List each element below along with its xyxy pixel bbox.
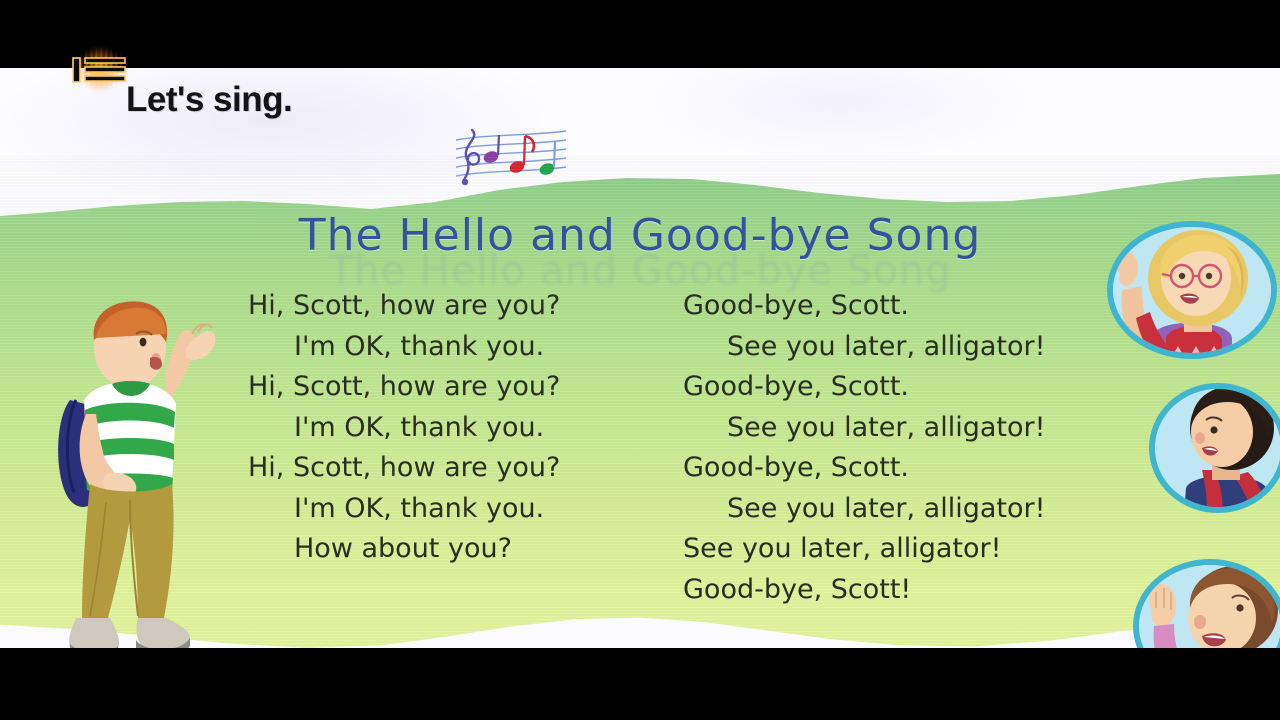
lyrics-column-left: Hi, Scott, how are you?I'm OK, thank you… — [248, 286, 560, 570]
lyric-line: Hi, Scott, how are you? — [248, 286, 560, 327]
lyric-line: See you later, alligator! — [683, 408, 1045, 449]
audio-track-icon[interactable] — [58, 40, 142, 98]
blonde-girl-portrait — [1092, 218, 1278, 364]
letterbox-top — [0, 0, 1280, 68]
instruction-label: Let's sing. — [126, 80, 292, 120]
dark-haired-boy-portrait — [1146, 372, 1280, 522]
page-header: Let's sing. — [0, 60, 1280, 160]
lyric-line: Good-bye, Scott! — [683, 570, 1045, 611]
lyric-line: See you later, alligator! — [683, 529, 1045, 570]
waving-boy-illustration — [46, 288, 236, 652]
lyric-line: I'm OK, thank you. — [248, 408, 560, 449]
lyrics-column-right: Good-bye, Scott.See you later, alligator… — [683, 286, 1045, 610]
lyric-line: I'm OK, thank you. — [248, 327, 560, 368]
lyric-line: See you later, alligator! — [683, 489, 1045, 530]
lyric-line: Hi, Scott, how are you? — [248, 448, 560, 489]
song-title: The Hello and Good-bye Song — [0, 210, 1280, 261]
lyric-line: See you later, alligator! — [683, 327, 1045, 368]
list-lines-icon — [72, 56, 126, 84]
letterbox-bottom — [0, 648, 1280, 720]
lyric-line: Good-bye, Scott. — [683, 448, 1045, 489]
lyric-line: Hi, Scott, how are you? — [248, 367, 560, 408]
screen: Let's sing. — [0, 0, 1280, 720]
lyric-line: How about you? — [248, 529, 560, 570]
textbook-page: Let's sing. — [0, 60, 1280, 652]
pink-sweater-child-portrait — [1124, 552, 1280, 652]
lyric-line: Good-bye, Scott. — [683, 286, 1045, 327]
lyric-line: I'm OK, thank you. — [248, 489, 560, 530]
lyric-line: Good-bye, Scott. — [683, 367, 1045, 408]
